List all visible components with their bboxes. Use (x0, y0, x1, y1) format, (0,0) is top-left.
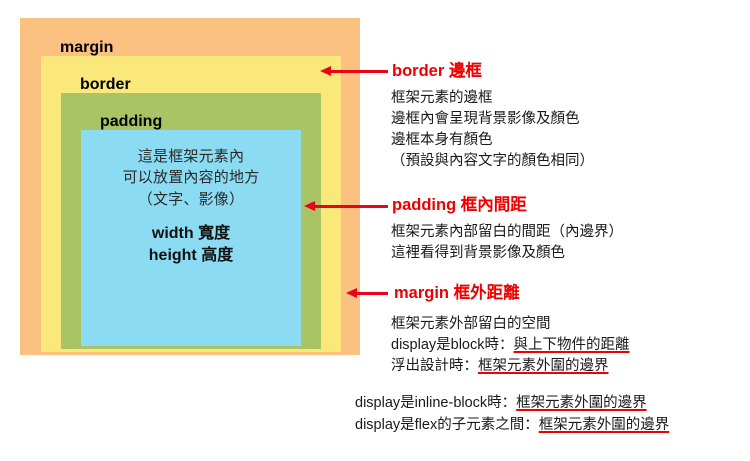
extra-rule-flex-prefix: display是flex的子元素之間： (355, 417, 539, 433)
border-annotation-line-4: （預設與內容文字的顏色相同） (391, 151, 594, 172)
extra-rule-flex-children: display是flex的子元素之間：框架元素外圍的邊界 (355, 415, 669, 437)
margin-rule-block-underlined: 與上下物件的距離 (514, 337, 630, 353)
content-dimensions: width 寬度 height 高度 (81, 223, 301, 267)
padding-arrow-icon (304, 201, 388, 212)
extra-rule-flex-underlined: 框架元素外圍的邊界 (539, 417, 670, 433)
extra-rule-inline-block: display是inline-block時：框架元素外圍的邊界 (355, 393, 669, 415)
margin-rule-block-display: display是block時：與上下物件的距離 (391, 335, 630, 356)
content-width-label: width 寬度 (81, 223, 301, 245)
content-layer: 這是框架元素內 可以放置內容的地方 （文字、影像） width 寬度 heigh… (81, 130, 301, 346)
arrow-shaft-icon (355, 292, 388, 295)
arrow-shaft-icon (329, 70, 388, 73)
content-text-line-1: 這是框架元素內 (81, 146, 301, 167)
border-annotation-body: 框架元素的邊框 邊框內會呈現背景影像及顏色 邊框本身有顏色 （預設與內容文字的顏… (391, 88, 594, 172)
border-annotation-heading: border 邊框 (392, 63, 482, 80)
extra-rule-inline-block-prefix: display是inline-block時： (355, 395, 516, 411)
border-annotation-line-3: 邊框本身有顏色 (391, 130, 594, 151)
padding-annotation-line-1: 框架元素內部留白的間距（內邊界） (391, 222, 623, 243)
margin-layer-label: margin (41, 39, 341, 56)
padding-layer-label: padding (81, 113, 301, 130)
margin-arrow-icon (346, 288, 388, 299)
border-annotation-line-1: 框架元素的邊框 (391, 88, 594, 109)
border-arrow-icon (320, 66, 388, 77)
content-text-line-2: 可以放置內容的地方 (81, 167, 301, 188)
padding-annotation-line-2: 這裡看得到背景影像及顏色 (391, 243, 623, 264)
padding-annotation-heading: padding 框內間距 (392, 197, 527, 214)
margin-rule-block-prefix: display是block時： (391, 337, 514, 353)
margin-annotation-body: 框架元素外部留白的空間 display是block時：與上下物件的距離 浮出設計… (391, 314, 630, 377)
margin-rule-float-display: 浮出設計時：框架元素外圍的邊界 (391, 356, 630, 377)
content-text-line-3: （文字、影像） (81, 189, 301, 210)
border-annotation-line-2: 邊框內會呈現背景影像及顏色 (391, 109, 594, 130)
extra-rule-inline-block-underlined: 框架元素外圍的邊界 (516, 395, 647, 411)
padding-annotation-body: 框架元素內部留白的間距（內邊界） 這裡看得到背景影像及顏色 (391, 222, 623, 264)
margin-annotation-heading: margin 框外距離 (394, 285, 520, 302)
extra-rules-body: display是inline-block時：框架元素外圍的邊界 display是… (355, 393, 669, 437)
padding-layer: padding 這是框架元素內 可以放置內容的地方 （文字、影像） width … (61, 93, 321, 349)
border-layer: border padding 這是框架元素內 可以放置內容的地方 （文字、影像）… (41, 56, 341, 352)
margin-rule-float-prefix: 浮出設計時： (391, 358, 478, 374)
border-layer-label: border (61, 76, 321, 93)
margin-annotation-line-1: 框架元素外部留白的空間 (391, 314, 630, 335)
box-model-diagram: margin border padding 這是框架元素內 可以放置內容的地方 … (20, 18, 360, 355)
content-height-label: height 高度 (81, 245, 301, 267)
arrow-shaft-icon (313, 205, 388, 208)
margin-rule-float-underlined: 框架元素外圍的邊界 (478, 358, 609, 374)
